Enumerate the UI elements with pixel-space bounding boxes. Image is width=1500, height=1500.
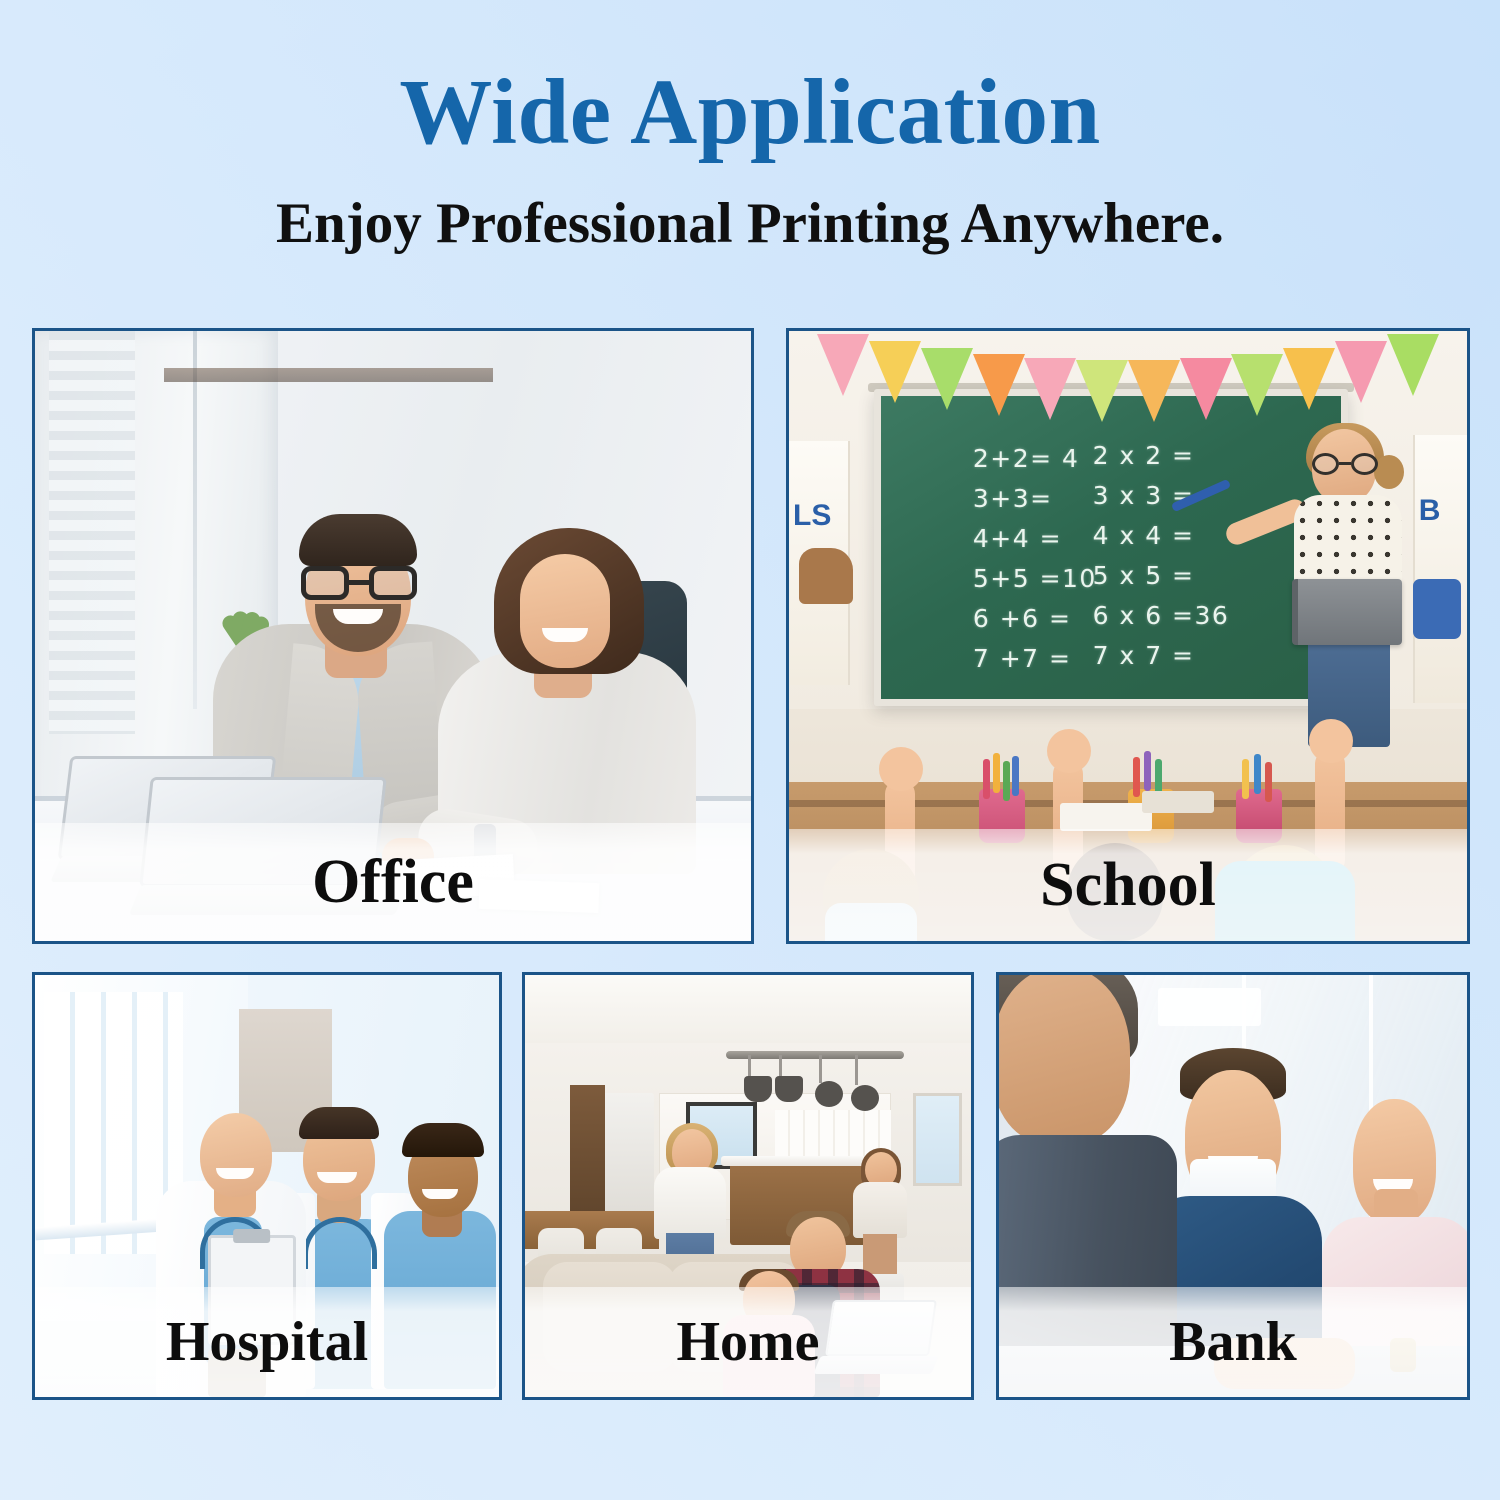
card-label-hospital: Hospital bbox=[166, 1314, 368, 1370]
bunting-flag bbox=[869, 341, 921, 403]
refrigerator bbox=[601, 1093, 655, 1228]
bunting-flags bbox=[843, 334, 1413, 426]
poster-left: LS bbox=[789, 441, 850, 685]
school-label-band: School bbox=[789, 829, 1467, 941]
horse-illustration bbox=[799, 548, 853, 604]
bunting-flag bbox=[1076, 360, 1128, 422]
card-home[interactable]: Home bbox=[522, 972, 974, 1400]
card-bank[interactable]: Bank bbox=[996, 972, 1470, 1400]
home-label-band: Home bbox=[525, 1287, 971, 1397]
page-subtitle: Enjoy Professional Printing Anywhere. bbox=[0, 195, 1500, 252]
hospital-label-band: Hospital bbox=[35, 1287, 499, 1397]
bunting-flag bbox=[1024, 358, 1076, 420]
chalk-multiplication-column: 2 x 2 = 3 x 3 = 4 x 4 = 5 x 5 = 6 x 6 =3… bbox=[1093, 441, 1230, 681]
poster-right: B bbox=[1413, 435, 1467, 703]
chalkboard: 2+2= 4 3+3= 4+4 = 5+5 =10 6 +6 = 7 +7 = … bbox=[874, 389, 1349, 706]
bunting-flag bbox=[1387, 334, 1439, 396]
page-title: Wide Application bbox=[0, 66, 1500, 159]
card-label-bank: Bank bbox=[1169, 1314, 1297, 1370]
card-label-home: Home bbox=[676, 1314, 819, 1370]
card-school[interactable]: LS B 2+2= 4 3+3= 4+4 = 5+5 =10 6 +6 = 7 … bbox=[786, 328, 1470, 944]
bunting-flag bbox=[817, 334, 869, 396]
poster-left-text: LS bbox=[793, 499, 831, 533]
card-label-office: Office bbox=[312, 851, 474, 913]
teacher-glasses-icon bbox=[1312, 453, 1378, 475]
bunting-flag bbox=[1283, 348, 1335, 410]
flashcard bbox=[1413, 579, 1461, 639]
school-teacher bbox=[1286, 429, 1416, 759]
bunting-flag bbox=[1128, 360, 1180, 422]
card-label-school: School bbox=[1040, 854, 1216, 916]
bunting-flag bbox=[1231, 354, 1283, 416]
card-office[interactable]: Office bbox=[32, 328, 754, 944]
pot-rail bbox=[726, 1051, 904, 1059]
bunting-flag bbox=[921, 348, 973, 410]
office-label-band: Office bbox=[35, 823, 751, 941]
office-woman bbox=[438, 474, 708, 874]
eyeglasses-icon bbox=[301, 566, 417, 600]
bunting-flag bbox=[973, 354, 1025, 416]
bunting-flag bbox=[1335, 341, 1387, 403]
open-book bbox=[1292, 579, 1402, 645]
infographic-page: Wide Application Enjoy Professional Prin… bbox=[0, 0, 1500, 1500]
chalk-addition-column: 2+2= 4 3+3= 4+4 = 5+5 =10 6 +6 = 7 +7 = bbox=[973, 444, 1097, 684]
card-hospital[interactable]: Hospital bbox=[32, 972, 502, 1400]
bunting-flag bbox=[1180, 358, 1232, 420]
poster-right-text: B bbox=[1419, 494, 1441, 528]
header: Wide Application Enjoy Professional Prin… bbox=[0, 0, 1500, 252]
bank-label-band: Bank bbox=[999, 1287, 1467, 1397]
